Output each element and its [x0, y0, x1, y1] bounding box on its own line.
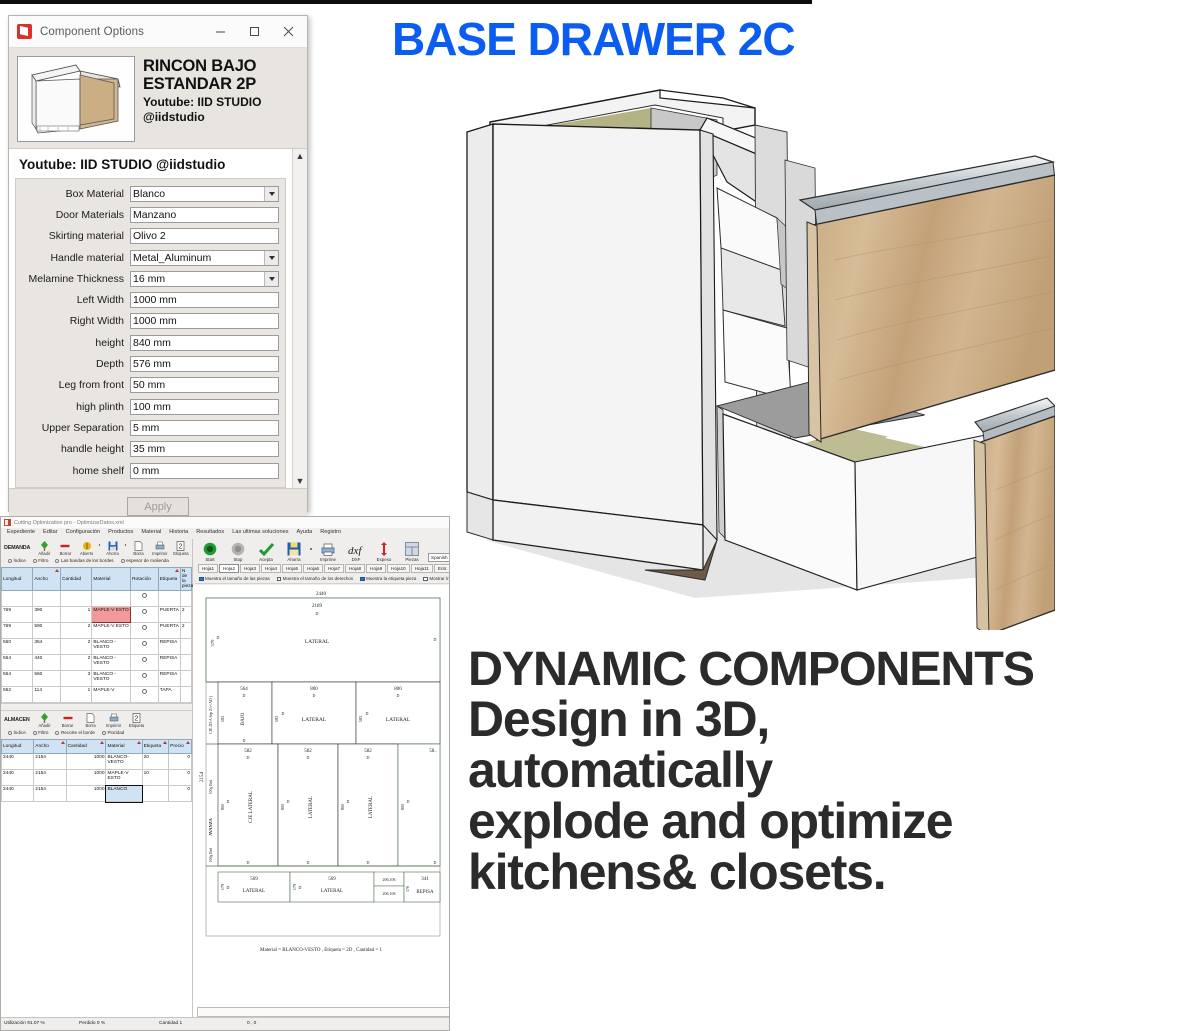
- svg-text:D: D: [243, 738, 246, 743]
- scroll-down-icon[interactable]: ▼: [296, 476, 305, 486]
- home-shelf-input[interactable]: 0 mm: [130, 463, 279, 479]
- cell-etiqueta: REPISA: [158, 655, 180, 671]
- field-label: Handle material: [22, 252, 130, 264]
- cell-longitud: 2440: [2, 770, 34, 786]
- menu-ayuda[interactable]: Ayuda: [297, 529, 313, 539]
- option-row-height: height 840 mm: [22, 332, 279, 353]
- cell-ancho: 114: [33, 687, 61, 703]
- radio-icon[interactable]: [55, 559, 59, 563]
- cutting-menubar[interactable]: Expediente Editar Configuración Producto…: [1, 528, 449, 539]
- option-label: espesor de molienda: [126, 558, 169, 563]
- field-value: 576 mm: [133, 358, 171, 370]
- chevron-down-icon[interactable]: [264, 187, 278, 201]
- demanda-label-button[interactable]: 2 Etiqueta: [172, 540, 190, 556]
- cell-longitud: 564: [2, 655, 33, 671]
- svg-text:D: D: [227, 799, 230, 804]
- field-value: 1000 mm: [133, 294, 177, 306]
- field-value: 50 mm: [133, 379, 165, 391]
- demanda-save-button[interactable]: Ahorra: [103, 540, 121, 556]
- checkbox-label: Muestra la etiqueta pieza: [366, 576, 416, 581]
- svg-text:LATERAL: LATERAL: [309, 796, 314, 818]
- column-precio[interactable]: Precio: [169, 740, 192, 754]
- marketing-line-1: DYNAMIC COMPONENTS: [468, 645, 1198, 694]
- cell-longitud: 2440: [2, 754, 34, 770]
- remove-red-bar-icon: [56, 540, 74, 551]
- svg-text:LATERAL: LATERAL: [302, 717, 327, 723]
- add-green-diamond-icon: [35, 712, 55, 723]
- svg-text:582: 582: [244, 749, 252, 754]
- button-label: Ahorra: [282, 557, 306, 562]
- option-row-leg-from-front: Leg from front 50 mm: [22, 375, 279, 396]
- delete-page-icon: [129, 540, 147, 551]
- menu-configuracion[interactable]: Configuración: [66, 529, 101, 539]
- cell-n: [180, 639, 191, 655]
- svg-text:D: D: [407, 799, 410, 804]
- svg-text:LATERAL: LATERAL: [321, 889, 343, 894]
- column-etiqueta[interactable]: Etiqueta: [158, 568, 180, 591]
- table-filter-row: [2, 591, 192, 607]
- column-cantidad[interactable]: Cantidad: [61, 568, 92, 591]
- height-input[interactable]: 840 mm: [130, 335, 279, 351]
- cell-cantidad: 2: [61, 623, 92, 639]
- column-longitud[interactable]: Longitud: [2, 568, 33, 591]
- sheet-layout-diagram[interactable]: 2440 2154 2189 D LATERAL 579 D D: [193, 585, 450, 1007]
- column-rotacion[interactable]: Rotación: [131, 568, 159, 591]
- almacen-remove-button[interactable]: Borrar: [58, 712, 78, 728]
- column-material[interactable]: Material: [106, 740, 142, 754]
- tab-hoja7[interactable]: Hoja7: [324, 564, 344, 573]
- cell-n: 2: [180, 623, 191, 639]
- svg-text:D: D: [434, 637, 437, 642]
- chk-etiqueta-pieza[interactable]: Muestra la etiqueta pieza: [360, 576, 416, 581]
- skirting-material-input[interactable]: Olivo 2: [130, 228, 279, 244]
- field-value: Manzano: [133, 209, 176, 221]
- options-group-label: Youtube: IID STUDIO @iidstudio: [15, 155, 286, 178]
- tab-hoja10[interactable]: Hoja10: [387, 564, 410, 573]
- demanda-add-button[interactable]: Añadir: [35, 540, 53, 556]
- option-label: Recorte el borde: [61, 730, 95, 735]
- radio-icon[interactable]: [102, 731, 106, 735]
- option-label: Índice: [14, 558, 26, 563]
- table-row[interactable]: 2440 2154 1000 MAPLE-V ESTO 10 0: [2, 770, 192, 786]
- cell-etiqueta: 10: [142, 770, 169, 786]
- checkbox-label: Mostrar índice: [429, 576, 450, 581]
- cell-material: BLANCO -VESTO: [92, 655, 131, 671]
- remove-red-bar-icon: [58, 712, 78, 723]
- cell-material-editing[interactable]: BLANCO: [106, 786, 142, 802]
- svg-text:D: D: [282, 711, 285, 716]
- svg-text:582: 582: [358, 716, 363, 723]
- upper-separation-input[interactable]: 5 mm: [130, 420, 279, 436]
- demanda-option-indice[interactable]: Índice: [8, 558, 26, 563]
- field-value: 840 mm: [133, 337, 171, 349]
- cutting-main-area: DEMANDA Añadir Borrar: [1, 539, 449, 1017]
- almacen-print-button[interactable]: Imprimir: [104, 712, 124, 728]
- cell-etiqueta: REPISA: [158, 639, 180, 655]
- pieces-button[interactable]: Piezas: [400, 541, 424, 562]
- table-row[interactable]: 769 390 1 MAPLE-V ESTO PUERTA 2: [2, 607, 192, 623]
- option-row-melamine-thickness: Melamine Thickness 16 mm: [22, 268, 279, 289]
- cell-cantidad: 1: [61, 607, 92, 623]
- table-row[interactable]: 2440 2154 1000 BLANCO-VESTO 20 0: [2, 754, 192, 770]
- checkbox-icon[interactable]: [199, 577, 204, 582]
- almacen-add-button[interactable]: Añadir: [35, 712, 55, 728]
- options-field-list: Box Material Blanco Door Materials Manza…: [15, 178, 286, 488]
- thickness-button[interactable]: Expeso: [372, 541, 396, 562]
- dxf-button[interactable]: dxf DXF: [344, 541, 368, 562]
- cell-n: [180, 687, 191, 703]
- menu-productos[interactable]: Productos: [108, 529, 133, 539]
- demanda-open-button[interactable]: Abierto: [78, 540, 96, 556]
- sheet-tabs[interactable]: Hoja1 Hoja2 Hoja3 Hoja4 Hoja5 Hoja6 Hoja…: [195, 563, 450, 574]
- language-select[interactable]: Spanish: [428, 553, 450, 562]
- demanda-delete-button[interactable]: Borra: [129, 540, 147, 556]
- demanda-print-button[interactable]: Imprimir: [151, 540, 169, 556]
- field-label: handle height: [22, 443, 130, 455]
- radio-icon[interactable]: [33, 731, 37, 735]
- almacen-option-prioridad[interactable]: Pioridad: [102, 730, 124, 735]
- filter-rotacion[interactable]: [131, 591, 159, 607]
- field-value: Blanco: [133, 188, 165, 200]
- depth-input[interactable]: 576 mm: [130, 356, 279, 372]
- box-material-select[interactable]: Blanco: [130, 186, 279, 202]
- tab-hoja5[interactable]: Hoja5: [282, 564, 302, 573]
- svg-text:100g Bed: 100g Bed: [209, 848, 213, 863]
- cell-ancho: 2154: [34, 754, 66, 770]
- radio-icon[interactable]: [8, 731, 12, 735]
- close-icon[interactable]: [271, 17, 305, 47]
- save-blue-disk-icon: [103, 540, 121, 551]
- almacen-table[interactable]: Longitud Ancho Cantidad Material Etiquet…: [1, 739, 192, 802]
- cutting-window-titlebar[interactable]: Cutting Optimization pro - OptimizarDato…: [1, 517, 449, 528]
- cell-rotacion[interactable]: [131, 671, 159, 687]
- column-material[interactable]: Material: [92, 568, 131, 591]
- cell-material: BLANCO -VESTO: [92, 671, 131, 687]
- svg-text:2: 2: [135, 715, 139, 722]
- svg-text:LATERAL: LATERAL: [305, 639, 330, 645]
- filter-cell: [92, 591, 131, 607]
- cell-longitud: 769: [2, 623, 33, 639]
- options-scroll-area: Youtube: IID STUDIO @iidstudio Box Mater…: [9, 149, 292, 488]
- radio-icon[interactable]: [121, 559, 125, 563]
- demanda-option-espesor[interactable]: espesor de molienda: [121, 558, 169, 563]
- column-longitud[interactable]: Longitud: [2, 740, 34, 754]
- rotation-toggle-icon[interactable]: [142, 593, 147, 598]
- tool-label: Etiqueta: [127, 723, 147, 728]
- tab-entr[interactable]: Entr.: [434, 564, 450, 573]
- cell-rotacion[interactable]: [131, 655, 159, 671]
- svg-text:179: 179: [292, 883, 297, 890]
- almacen-option-recorte[interactable]: Recorte el borde: [55, 730, 94, 735]
- table-row[interactable]: 552 114 1 MAPLE-V TAPA: [2, 687, 192, 703]
- cell-cantidad: 3: [61, 671, 92, 687]
- marketing-line-4: explode and optimize: [468, 796, 1198, 847]
- tab-hoja8[interactable]: Hoja8: [345, 564, 365, 573]
- column-n-pieza[interactable]: N de la pieza: [180, 568, 191, 591]
- almacen-option-filtro[interactable]: Filtro: [33, 730, 49, 735]
- top-divider-rule: [0, 0, 812, 4]
- almacen-option-indice[interactable]: Índice: [8, 730, 26, 735]
- cell-precio: 0: [169, 770, 192, 786]
- table-row[interactable]: 564 440 2 BLANCO -VESTO REPISA: [2, 655, 192, 671]
- svg-text:D: D: [316, 611, 319, 616]
- field-label: Door Materials: [22, 209, 130, 221]
- cell-longitud: 552: [2, 687, 33, 703]
- menu-registro[interactable]: Registro: [320, 529, 341, 539]
- app-logo-icon: [4, 519, 11, 526]
- button-label: Expeso: [372, 557, 396, 562]
- checkbox-icon[interactable]: [277, 577, 282, 582]
- cell-material: BLANCO -VESTO: [92, 639, 131, 655]
- cell-cantidad: 1: [61, 687, 92, 703]
- table-row[interactable]: 560 364 2 BLANCO -VESTO REPISA: [2, 639, 192, 655]
- tab-hoja6[interactable]: Hoja6: [303, 564, 323, 573]
- table-row[interactable]: 564 560 3 BLANCO -VESTO REPISA: [2, 671, 192, 687]
- sheet-top-dimension: 2440: [316, 592, 327, 597]
- toolbar-separator-dot: [125, 544, 127, 546]
- rotation-toggle-icon[interactable]: [142, 657, 147, 662]
- svg-text:179: 179: [220, 883, 225, 890]
- almacen-label-button[interactable]: 2 Etiqueta: [127, 712, 147, 728]
- scrollbar-track[interactable]: [295, 161, 306, 476]
- scroll-up-icon[interactable]: ▲: [296, 151, 305, 161]
- component-sub-line-1: Youtube: IID STUDIO: [143, 96, 299, 109]
- demanda-toolbar: DEMANDA Añadir Borrar: [1, 539, 192, 567]
- start-green-icon: [198, 541, 222, 557]
- tool-label: Borrar: [56, 551, 74, 556]
- right-width-input[interactable]: 1000 mm: [130, 313, 279, 329]
- cell-n: [180, 671, 191, 687]
- component-header: RINCON BAJO ESTANDAR 2P Youtube: IID STU…: [9, 48, 307, 148]
- option-row-high-plinth: high plinth 100 mm: [22, 396, 279, 417]
- svg-text:CJE LATERAL: CJE LATERAL: [249, 791, 254, 823]
- chevron-down-icon[interactable]: [264, 272, 278, 286]
- button-label: DXF: [344, 557, 368, 562]
- chevron-down-icon[interactable]: [264, 251, 278, 265]
- print-icon: [104, 712, 124, 723]
- cell-rotacion[interactable]: [131, 623, 159, 639]
- svg-text:D: D: [307, 860, 310, 865]
- dxf-icon: dxf: [344, 541, 368, 557]
- open-yellow-icon: [78, 540, 96, 551]
- tab-hoja9[interactable]: Hoja9: [366, 564, 386, 573]
- filter-cell: [180, 591, 191, 607]
- field-value: 16 mm: [133, 273, 165, 285]
- tool-label: Imprimir: [104, 723, 124, 728]
- svg-text:564: 564: [240, 687, 248, 692]
- component-options-titlebar[interactable]: Component Options: [9, 16, 307, 48]
- save-disk-icon: [282, 541, 306, 557]
- radio-icon[interactable]: [8, 559, 12, 563]
- tool-label: Borra: [81, 723, 101, 728]
- tool-label: Ahorra: [103, 551, 121, 556]
- svg-text:D: D: [243, 693, 246, 698]
- column-etiqueta[interactable]: Etiqueta: [142, 740, 169, 754]
- field-label: Upper Separation: [22, 422, 130, 434]
- option-row-depth: Depth 576 mm: [22, 353, 279, 374]
- checkbox-icon[interactable]: [360, 577, 365, 582]
- almacen-delete-button[interactable]: Borra: [81, 712, 101, 728]
- almacen-toolbar: ALMACEN Añadir Borrar: [1, 711, 192, 739]
- radio-icon[interactable]: [55, 731, 59, 735]
- svg-text:CJE 2D/A Sep Z/c<AD ): CJE 2D/A Sep Z/c<AD ): [209, 695, 213, 734]
- accept-button[interactable]: Acepta: [254, 541, 278, 562]
- demanda-table[interactable]: Longitud Ancho Cantidad Material Rotació…: [1, 567, 192, 703]
- rotation-toggle-icon[interactable]: [142, 609, 147, 614]
- field-label: Box Material: [22, 188, 130, 200]
- chk-mostrar-indice[interactable]: Mostrar índice: [423, 576, 450, 581]
- cell-rotacion[interactable]: [131, 687, 159, 703]
- high-plinth-input[interactable]: 100 mm: [130, 399, 279, 415]
- cell-cantidad: 1000: [66, 786, 106, 802]
- cell-n: 2: [180, 607, 191, 623]
- svg-text:AVANZA: AVANZA: [208, 817, 213, 835]
- tool-label: Borrar: [58, 723, 78, 728]
- svg-text:582: 582: [274, 716, 279, 723]
- demanda-hscrollbar[interactable]: [1, 703, 192, 711]
- option-row-handle-height: handle height 35 mm: [22, 439, 279, 460]
- save-button[interactable]: Ahorra: [282, 541, 306, 562]
- menu-historia[interactable]: Historia: [169, 529, 188, 539]
- label-icon: 2: [172, 540, 190, 551]
- field-label: high plinth: [22, 401, 130, 413]
- demanda-remove-button[interactable]: Borrar: [56, 540, 74, 556]
- cell-cantidad: 2: [61, 639, 92, 655]
- delete-page-icon: [81, 712, 101, 723]
- label-icon: 2: [127, 712, 147, 723]
- handle-height-input[interactable]: 35 mm: [130, 441, 279, 457]
- apply-button[interactable]: Apply: [127, 497, 189, 516]
- cell-longitud: 564: [2, 671, 33, 687]
- stop-grey-icon: [226, 541, 250, 557]
- page-title: BASE DRAWER 2C: [392, 12, 992, 66]
- maximize-icon[interactable]: [237, 17, 271, 47]
- status-extra: 0 , 0: [247, 1021, 287, 1026]
- svg-text:800: 800: [400, 803, 405, 810]
- pieces-icon: [400, 541, 424, 557]
- field-value: Metal_Aluminum: [133, 252, 211, 264]
- filter-cell: [158, 591, 180, 607]
- svg-text:D: D: [367, 860, 370, 865]
- chk-tamano-piezas[interactable]: Muestra el tamaño de las piezas: [199, 576, 270, 581]
- tab-hoja11[interactable]: Hoja11: [411, 564, 433, 573]
- menu-ultimas-soluciones[interactable]: Las ultimas soluciones: [232, 529, 288, 539]
- option-label: Las bandas de los bordes: [61, 558, 114, 563]
- svg-text:D: D: [397, 693, 400, 698]
- svg-text:D: D: [247, 860, 250, 865]
- radio-icon[interactable]: [33, 559, 37, 563]
- field-label: Left Width: [22, 294, 130, 306]
- table-header-row: Longitud Ancho Cantidad Material Etiquet…: [2, 740, 192, 754]
- tab-hoja1[interactable]: Hoja1: [198, 564, 218, 573]
- left-width-input[interactable]: 1000 mm: [130, 292, 279, 308]
- svg-text:D: D: [247, 755, 250, 760]
- minimize-icon[interactable]: [203, 17, 237, 47]
- options-scrollbar[interactable]: ▲ ▼: [292, 149, 307, 488]
- stop-button[interactable]: Stop: [226, 541, 250, 562]
- sheet-left-dimension: 2154: [200, 772, 205, 783]
- status-perdido: Perdido 0 %: [79, 1021, 159, 1026]
- button-label: Start: [198, 557, 222, 562]
- button-label: Acepta: [254, 557, 278, 562]
- print-button[interactable]: Imprime: [316, 541, 340, 562]
- table-row[interactable]: 769 590 2 MAPLE-V ESTO PUERTA 2: [2, 623, 192, 639]
- handle-material-select[interactable]: Metal_Aluminum: [130, 250, 279, 266]
- sheet-caption: Material = BLANCO-VESTO , Etiqueta = 2D …: [260, 948, 382, 953]
- checkbox-label: Muestra el tamaño de los derechos: [283, 576, 353, 581]
- cell-material: BLANCO-VESTO: [106, 754, 142, 770]
- menu-expediente[interactable]: Expediente: [7, 529, 35, 539]
- filter-cell: [33, 591, 61, 607]
- svg-text:LATERAL: LATERAL: [369, 796, 374, 818]
- svg-text:D: D: [366, 711, 369, 716]
- option-row-upper-separation: Upper Separation 5 mm: [22, 417, 279, 438]
- option-row-left-width: Left Width 1000 mm: [22, 289, 279, 310]
- field-label: Skirting material: [22, 230, 130, 242]
- filter-cell: [61, 591, 92, 607]
- marketing-line-2: Design in 3D,: [468, 694, 1198, 745]
- rotation-toggle-icon[interactable]: [142, 641, 147, 646]
- menu-material[interactable]: Material: [141, 529, 161, 539]
- rotation-toggle-icon[interactable]: [142, 625, 147, 630]
- cell-rotacion[interactable]: [131, 639, 159, 655]
- cell-rotacion[interactable]: [131, 607, 159, 623]
- svg-text:LATERAL: LATERAL: [243, 889, 265, 894]
- sheet-hscrollbar[interactable]: [197, 1007, 450, 1017]
- svg-text:800: 800: [340, 803, 345, 810]
- almacen-caption: ALMACEN: [4, 717, 32, 723]
- menu-resultados[interactable]: Resultados: [196, 529, 224, 539]
- demanda-option-filtro[interactable]: Filtro: [33, 558, 49, 563]
- svg-text:D: D: [313, 693, 316, 698]
- svg-text:D: D: [347, 799, 350, 804]
- svg-text:800: 800: [310, 687, 318, 692]
- marketing-line-3: automatically: [468, 745, 1198, 796]
- option-label: Filtro: [38, 730, 48, 735]
- add-green-diamond-icon: [35, 540, 53, 551]
- cabinet-3d-render: [455, 70, 1055, 630]
- cell-material: MAPLE-V ESTO: [92, 623, 131, 639]
- print-icon: [316, 541, 340, 557]
- svg-text:dxf: dxf: [348, 545, 363, 556]
- column-ancho[interactable]: Ancho: [34, 740, 66, 754]
- column-cantidad[interactable]: Cantidad: [66, 740, 106, 754]
- door-materials-input[interactable]: Manzano: [130, 207, 279, 223]
- rotation-toggle-icon[interactable]: [142, 689, 147, 694]
- cell-ancho: 440: [33, 655, 61, 671]
- rotation-toggle-icon[interactable]: [142, 673, 147, 678]
- leg-from-front-input[interactable]: 50 mm: [130, 377, 279, 393]
- melamine-thickness-select[interactable]: 16 mm: [130, 271, 279, 287]
- svg-text:582: 582: [364, 749, 372, 754]
- field-label: Melamine Thickness: [22, 273, 130, 285]
- column-ancho[interactable]: Ancho: [33, 568, 61, 591]
- tab-hoja4[interactable]: Hoja4: [261, 564, 281, 573]
- chk-tamano-derechos[interactable]: Muestra el tamaño de los derechos: [277, 576, 353, 581]
- menu-editar[interactable]: Editar: [43, 529, 58, 539]
- tab-hoja2[interactable]: Hoja2: [219, 564, 239, 573]
- demanda-option-bandas[interactable]: Las bandas de los bordes: [55, 558, 113, 563]
- tab-hoja3[interactable]: Hoja3: [240, 564, 260, 573]
- svg-text:582: 582: [304, 749, 312, 754]
- checkbox-icon[interactable]: [423, 577, 428, 582]
- start-button[interactable]: Start: [198, 541, 222, 562]
- toolbar-separator-dot: [310, 548, 312, 550]
- cell-material-selected[interactable]: MAPLE-V ESTO: [92, 607, 131, 623]
- cell-etiqueta: REPISA: [158, 671, 180, 687]
- table-row[interactable]: 2440 2154 1000 BLANCO 0: [2, 786, 192, 802]
- option-row-right-width: Right Width 1000 mm: [22, 311, 279, 332]
